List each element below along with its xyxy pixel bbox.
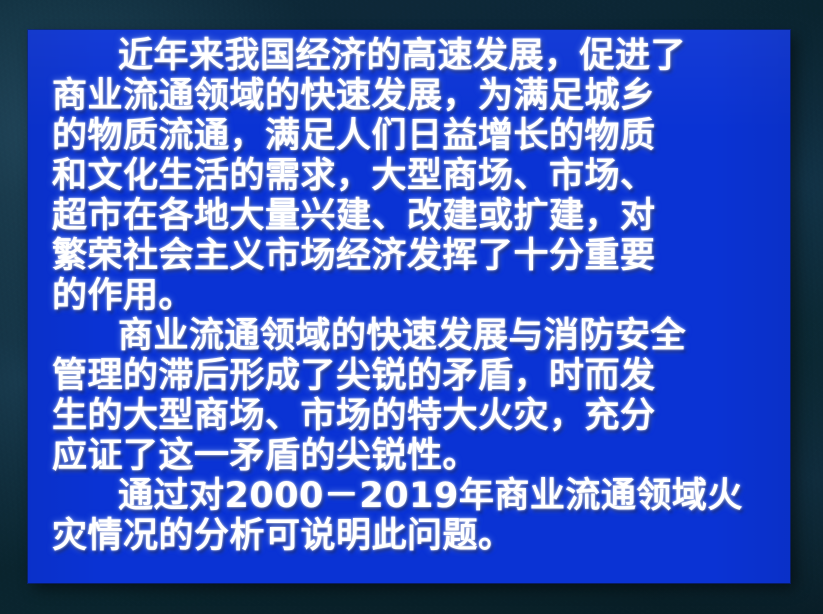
text-line: 应证了这一矛盾的尖锐性。 — [52, 436, 776, 476]
text-line: 和文化生活的需求，大型商场、市场、 — [52, 156, 776, 196]
paragraph-3: 通过对2000－2019年商业流通领域火 灾情况的分析可说明此问题。 — [52, 476, 776, 556]
text-line: 管理的滞后形成了尖锐的矛盾，时而发 — [52, 356, 776, 396]
text-line: 的作用。 — [52, 276, 776, 316]
text-line: 超市在各地大量兴建、改建或扩建，对 — [52, 196, 776, 236]
content-panel: 近年来我国经济的高速发展，促进了 商业流通领域的快速发展，为满足城乡 的物质流通… — [28, 30, 790, 583]
text-line: 近年来我国经济的高速发展，促进了 — [52, 36, 776, 76]
text-line: 生的大型商场、市场的特大火灾，充分 — [52, 396, 776, 436]
slide-body-text: 近年来我国经济的高速发展，促进了 商业流通领域的快速发展，为满足城乡 的物质流通… — [52, 36, 776, 556]
paragraph-2: 商业流通领域的快速发展与消防安全 管理的滞后形成了尖锐的矛盾，时而发 生的大型商… — [52, 316, 776, 476]
text-line: 灾情况的分析可说明此问题。 — [52, 516, 776, 556]
text-line: 的物质流通，满足人们日益增长的物质 — [52, 116, 776, 156]
text-line: 商业流通领域的快速发展，为满足城乡 — [52, 76, 776, 116]
presentation-slide: 近年来我国经济的高速发展，促进了 商业流通领域的快速发展，为满足城乡 的物质流通… — [0, 0, 823, 614]
paragraph-1: 近年来我国经济的高速发展，促进了 商业流通领域的快速发展，为满足城乡 的物质流通… — [52, 36, 776, 316]
text-line: 通过对2000－2019年商业流通领域火 — [52, 476, 776, 516]
text-line: 繁荣社会主义市场经济发挥了十分重要 — [52, 236, 776, 276]
text-line: 商业流通领域的快速发展与消防安全 — [52, 316, 776, 356]
